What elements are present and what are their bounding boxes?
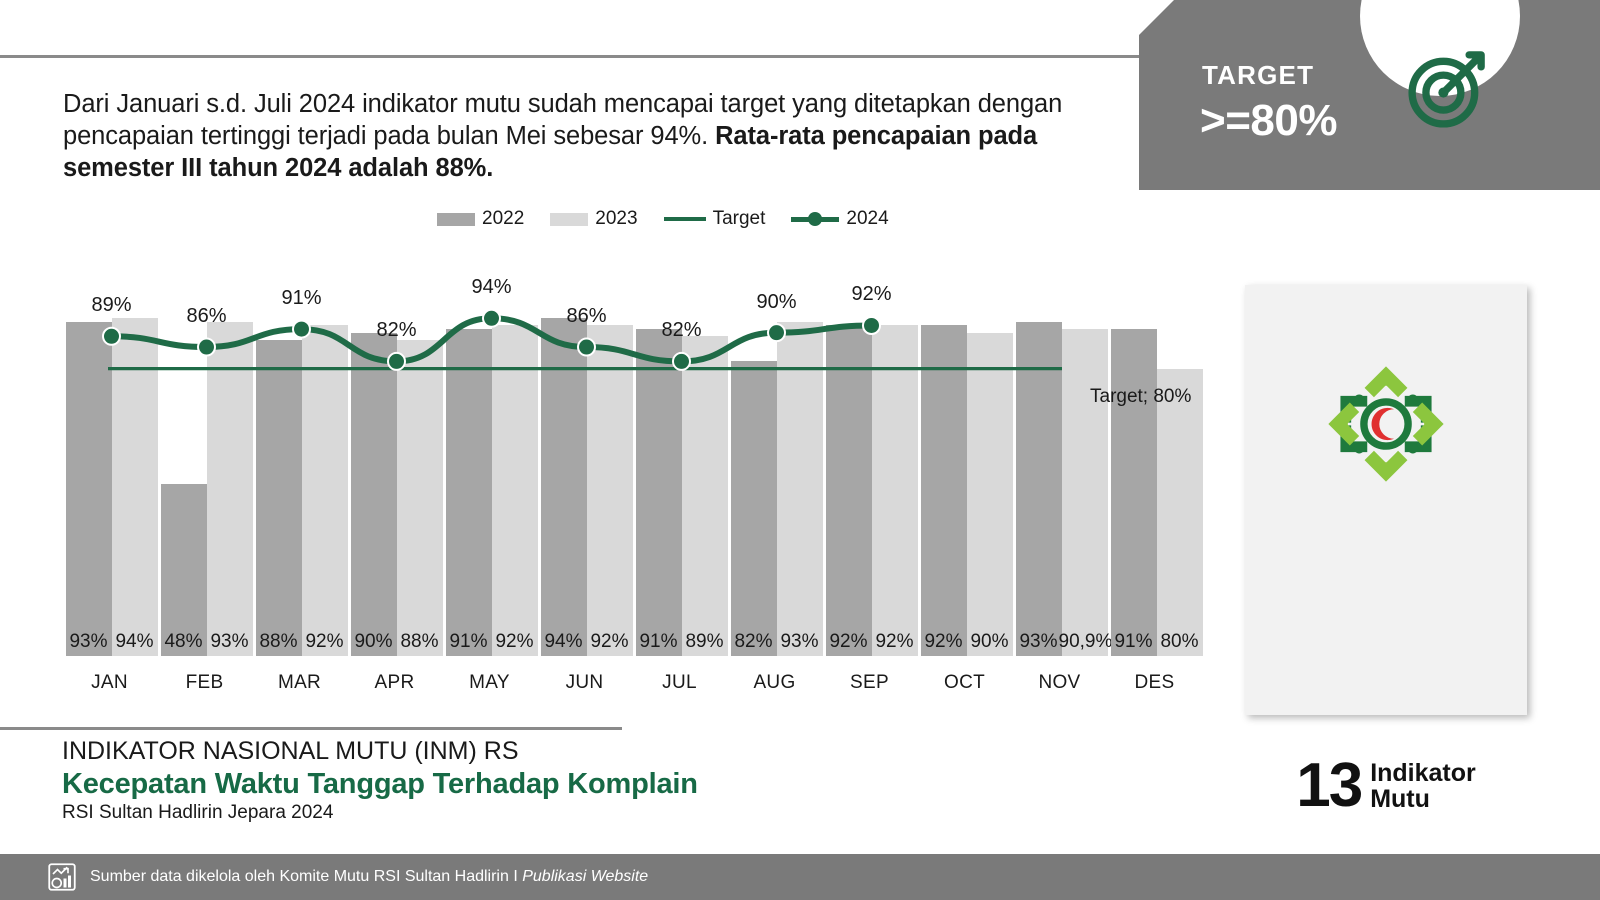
x-axis-label: MAY — [444, 672, 536, 694]
chart-x-axis: JANFEBMARAPRMAYJUNJULAUGSEPOCTNOVDES — [62, 672, 1202, 702]
title-kicker: INDIKATOR NASIONAL MUTU (INM) RS — [62, 737, 519, 766]
data-point-label-2024: 89% — [91, 294, 131, 317]
target-dart-icon — [1402, 42, 1494, 134]
x-axis-label: JAN — [64, 672, 156, 694]
data-point-2024 — [483, 310, 500, 327]
x-axis-label: JUN — [539, 672, 631, 694]
legend-item-2022[interactable]: 2022 — [437, 208, 524, 230]
legend-label-target: Target — [713, 208, 766, 230]
info-card: 13 Indikator Mutu STARKES RI Tahun 2022 — [1245, 285, 1527, 715]
legend-label-2023: 2023 — [595, 208, 637, 230]
chart-report-icon — [47, 862, 77, 892]
headline-paragraph: Dari Januari s.d. Juli 2024 indikator mu… — [63, 88, 1073, 184]
x-axis-label: AUG — [729, 672, 821, 694]
infographic-page: Dari Januari s.d. Juli 2024 indikator mu… — [0, 0, 1600, 900]
indicator-count-number: 13 — [1296, 757, 1361, 816]
data-point-2024 — [578, 339, 595, 356]
title-subtitle: RSI Sultan Hadlirin Jepara 2024 — [62, 802, 333, 824]
data-point-label-2024: 82% — [376, 319, 416, 342]
indicator-count-label-line2: Mutu — [1370, 785, 1430, 813]
x-axis-label: FEB — [159, 672, 251, 694]
target-badge-value: >=80% — [1200, 96, 1337, 146]
data-point-2024 — [103, 328, 120, 345]
x-axis-label: DES — [1109, 672, 1201, 694]
target-line-label: Target; 80% — [1090, 386, 1191, 408]
data-point-2024 — [673, 353, 690, 370]
x-axis-label: JUL — [634, 672, 726, 694]
x-axis-label: APR — [349, 672, 441, 694]
footer-text-italic: Publikasi Website — [522, 868, 648, 885]
target-badge-label: TARGET — [1202, 60, 1314, 91]
x-axis-label: MAR — [254, 672, 346, 694]
legend-item-target[interactable]: Target — [664, 208, 766, 230]
data-point-label-2024: 90% — [756, 291, 796, 314]
legend-swatch-2022 — [437, 213, 475, 226]
page-title: Kecepatan Waktu Tanggap Terhadap Komplai… — [62, 768, 698, 801]
data-point-label-2024: 94% — [471, 276, 511, 299]
data-point-2024 — [768, 324, 785, 341]
hospital-crescent-logo — [1319, 357, 1453, 491]
footer-text-normal: Sumber data dikelola oleh Komite Mutu RS… — [90, 868, 522, 885]
data-point-2024 — [293, 321, 310, 338]
data-point-label-2024: 86% — [186, 305, 226, 328]
data-point-2024 — [863, 317, 880, 334]
legend-label-2024: 2024 — [846, 208, 888, 230]
indicator-count-row: 13 Indikator Mutu — [1296, 757, 1476, 816]
bar-line-chart: 93%94%48%93%88%92%90%88%91%92%94%92%91%8… — [62, 268, 1202, 658]
footer-bar: Sumber data dikelola oleh Komite Mutu RS… — [0, 854, 1600, 900]
data-point-label-2024: 82% — [661, 319, 701, 342]
x-axis-label: OCT — [919, 672, 1011, 694]
x-axis-label: SEP — [824, 672, 916, 694]
title-divider — [0, 727, 622, 730]
legend-item-2024[interactable]: 2024 — [791, 208, 888, 230]
target-badge: TARGET >=80% — [1139, 0, 1600, 190]
data-point-2024 — [388, 353, 405, 370]
indicator-count-label: Indikator Mutu — [1370, 760, 1476, 813]
chart-line-overlay — [62, 268, 1202, 656]
data-point-label-2024: 91% — [281, 287, 321, 310]
chart-legend: 2022 2023 Target 2024 — [437, 208, 889, 230]
data-point-label-2024: 92% — [851, 283, 891, 306]
top-divider — [0, 55, 1140, 58]
legend-label-2022: 2022 — [482, 208, 524, 230]
legend-swatch-2023 — [550, 213, 588, 226]
legend-swatch-2024 — [791, 212, 839, 226]
x-axis-label: NOV — [1014, 672, 1106, 694]
data-point-2024 — [198, 339, 215, 356]
legend-swatch-target — [664, 217, 706, 221]
footer-text: Sumber data dikelola oleh Komite Mutu RS… — [90, 868, 648, 886]
legend-item-2023[interactable]: 2023 — [550, 208, 637, 230]
data-point-label-2024: 86% — [566, 305, 606, 328]
indicator-count-label-line1: Indikator — [1370, 759, 1476, 787]
